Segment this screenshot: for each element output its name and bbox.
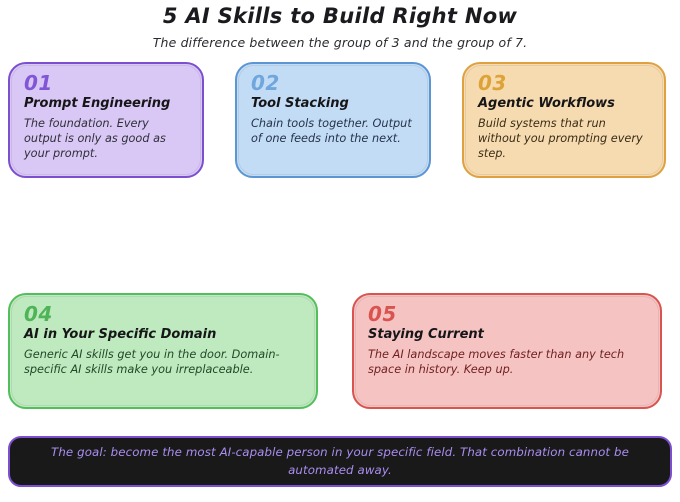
- footer-banner: The goal: become the most AI-capable per…: [8, 436, 672, 487]
- card-number: 04: [24, 304, 302, 325]
- card-title: AI in Your Specific Domain: [24, 328, 302, 343]
- card-number: 02: [251, 73, 415, 94]
- card-body: The AI landscape moves faster than any t…: [368, 348, 646, 378]
- page-title: 5 AI Skills to Build Right Now: [0, 0, 680, 28]
- skill-card-05[interactable]: 05 Staying Current The AI landscape move…: [352, 293, 662, 409]
- card-number: 05: [368, 304, 646, 325]
- skill-card-02[interactable]: 02 Tool Stacking Chain tools together. O…: [235, 62, 431, 178]
- card-title: Staying Current: [368, 328, 646, 343]
- card-body: Chain tools together. Output of one feed…: [251, 117, 415, 147]
- slide-canvas: 5 AI Skills to Build Right Now The diffe…: [0, 0, 680, 502]
- card-title: Tool Stacking: [251, 97, 415, 112]
- card-number: 01: [24, 73, 188, 94]
- card-number: 03: [478, 73, 650, 94]
- card-title: Agentic Workflows: [478, 97, 650, 112]
- card-title: Prompt Engineering: [24, 97, 188, 112]
- card-body: Generic AI skills get you in the door. D…: [24, 348, 302, 378]
- card-body: The foundation. Every output is only as …: [24, 117, 188, 162]
- footer-text: The goal: become the most AI-capable per…: [32, 444, 648, 478]
- skill-card-03[interactable]: 03 Agentic Workflows Build systems that …: [462, 62, 666, 178]
- card-body: Build systems that run without you promp…: [478, 117, 650, 162]
- page-subtitle: The difference between the group of 3 an…: [0, 28, 680, 50]
- header: 5 AI Skills to Build Right Now The diffe…: [0, 0, 680, 50]
- skill-card-04[interactable]: 04 AI in Your Specific Domain Generic AI…: [8, 293, 318, 409]
- skill-card-01[interactable]: 01 Prompt Engineering The foundation. Ev…: [8, 62, 204, 178]
